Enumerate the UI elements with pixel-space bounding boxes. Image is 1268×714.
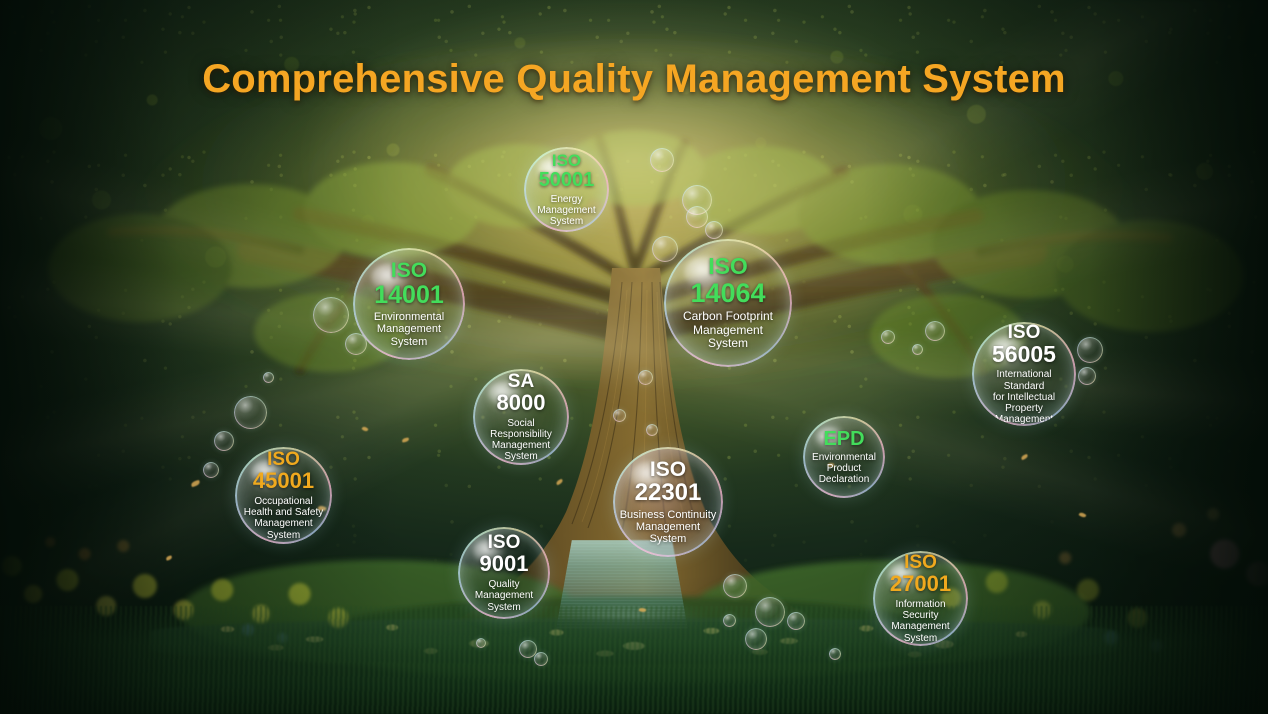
standard-code: ISO <box>904 553 937 572</box>
standard-description-line: Management <box>475 590 533 601</box>
standard-description-line: Carbon Footprint <box>683 310 773 323</box>
standard-description-line: System <box>374 336 444 348</box>
standard-code: ISO <box>1008 323 1041 342</box>
standard-description: Business ContinuityManagementSystem <box>615 509 722 546</box>
standard-number: 27001 <box>890 573 951 596</box>
standard-description-line: International Standard <box>977 369 1071 391</box>
standard-number: 50001 <box>539 170 595 191</box>
standard-description-line: System <box>620 533 717 545</box>
standard-description: Carbon FootprintManagementSystem <box>678 310 778 350</box>
standard-description: QualityManagementSystem <box>470 579 538 613</box>
standard-description: EnvironmentalProductDeclaration <box>807 452 881 486</box>
standard-description: Information SecurityManagementSystem <box>873 599 968 644</box>
standard-description-line: Occupational <box>244 496 324 507</box>
standard-description-line: Management <box>977 414 1071 425</box>
standard-description-line: Quality <box>475 579 533 590</box>
standard-description-line: Environmental <box>812 452 876 463</box>
standard-bubble-iso-9001[interactable]: ISO9001QualityManagementSystem <box>458 527 550 619</box>
foreground-grass <box>0 606 1268 714</box>
standard-description-line: for Intellectual <box>977 392 1071 403</box>
standard-description-line: Business Continuity <box>620 509 717 521</box>
standard-bubble-sa-8000[interactable]: SA8000Social ResponsibilityManagementSys… <box>473 369 569 465</box>
standard-description-line: System <box>878 633 963 644</box>
standard-number: 8000 <box>497 392 546 415</box>
standard-code: ISO <box>267 450 300 469</box>
standard-code: EPD <box>823 429 864 449</box>
standard-bubble-iso-14064[interactable]: ISO14064Carbon FootprintManagementSystem <box>664 239 792 367</box>
standard-description-line: System <box>683 337 773 350</box>
standard-description-line: Management <box>878 621 963 632</box>
standard-description-line: Environmental <box>374 311 444 323</box>
standard-description-line: Management <box>620 521 717 533</box>
standard-description-line: Management <box>478 440 564 451</box>
standard-code: ISO <box>391 260 427 281</box>
standard-description-line: System <box>537 216 595 227</box>
standard-description-line: Product <box>812 463 876 474</box>
standard-description-line: System <box>244 530 324 541</box>
standard-code: ISO <box>488 533 521 552</box>
standard-description-line: Social Responsibility <box>478 418 564 440</box>
standard-description-line: Declaration <box>812 474 876 485</box>
standard-number: 14064 <box>690 279 765 307</box>
standard-code: ISO <box>708 255 748 278</box>
standard-description: EnvironmentalManagementSystem <box>369 311 449 348</box>
standard-description: Social ResponsibilityManagementSystem <box>473 418 569 463</box>
standard-description: OccupationalHealth and SafetyManagementS… <box>239 496 329 541</box>
standard-number: 45001 <box>253 470 314 493</box>
standard-bubble-iso-45001[interactable]: ISO45001OccupationalHealth and SafetyMan… <box>235 447 332 544</box>
standard-description-line: Information Security <box>878 599 963 621</box>
standard-number: 9001 <box>480 553 529 576</box>
standard-code: SA <box>508 372 534 391</box>
standard-description-line: Management <box>537 205 595 216</box>
standard-bubble-iso-22301[interactable]: ISO22301Business ContinuityManagementSys… <box>613 447 723 557</box>
standard-number: 22301 <box>635 481 702 506</box>
standard-bubble-epd[interactable]: EPDEnvironmentalProductDeclaration <box>803 416 885 498</box>
standard-bubble-iso-14001[interactable]: ISO14001EnvironmentalManagementSystem <box>353 248 465 360</box>
standard-description: EnergyManagementSystem <box>532 194 600 228</box>
standard-bubble-iso-27001[interactable]: ISO27001Information SecurityManagementSy… <box>873 551 968 646</box>
standard-code: ISO <box>650 459 686 480</box>
standard-description-line: Management <box>374 323 444 335</box>
standard-description-line: Management <box>244 518 324 529</box>
page-title: Comprehensive Quality Management System <box>0 57 1268 102</box>
standard-description-line: Property <box>977 403 1071 414</box>
standard-description-line: System <box>478 451 564 462</box>
standard-description-line: Health and Safety <box>244 507 324 518</box>
standard-description-line: Energy <box>537 194 595 205</box>
standard-description: International Standardfor IntellectualPr… <box>972 369 1076 425</box>
standard-code: ISO <box>552 152 581 169</box>
standard-bubble-iso-50001[interactable]: ISO50001EnergyManagementSystem <box>524 147 609 232</box>
standard-description-line: System <box>475 602 533 613</box>
standard-bubble-iso-56005[interactable]: ISO56005International Standardfor Intell… <box>972 322 1076 426</box>
standard-number: 56005 <box>992 343 1056 367</box>
standard-number: 14001 <box>374 282 444 308</box>
scene-canvas: Comprehensive Quality Management System … <box>0 0 1268 714</box>
